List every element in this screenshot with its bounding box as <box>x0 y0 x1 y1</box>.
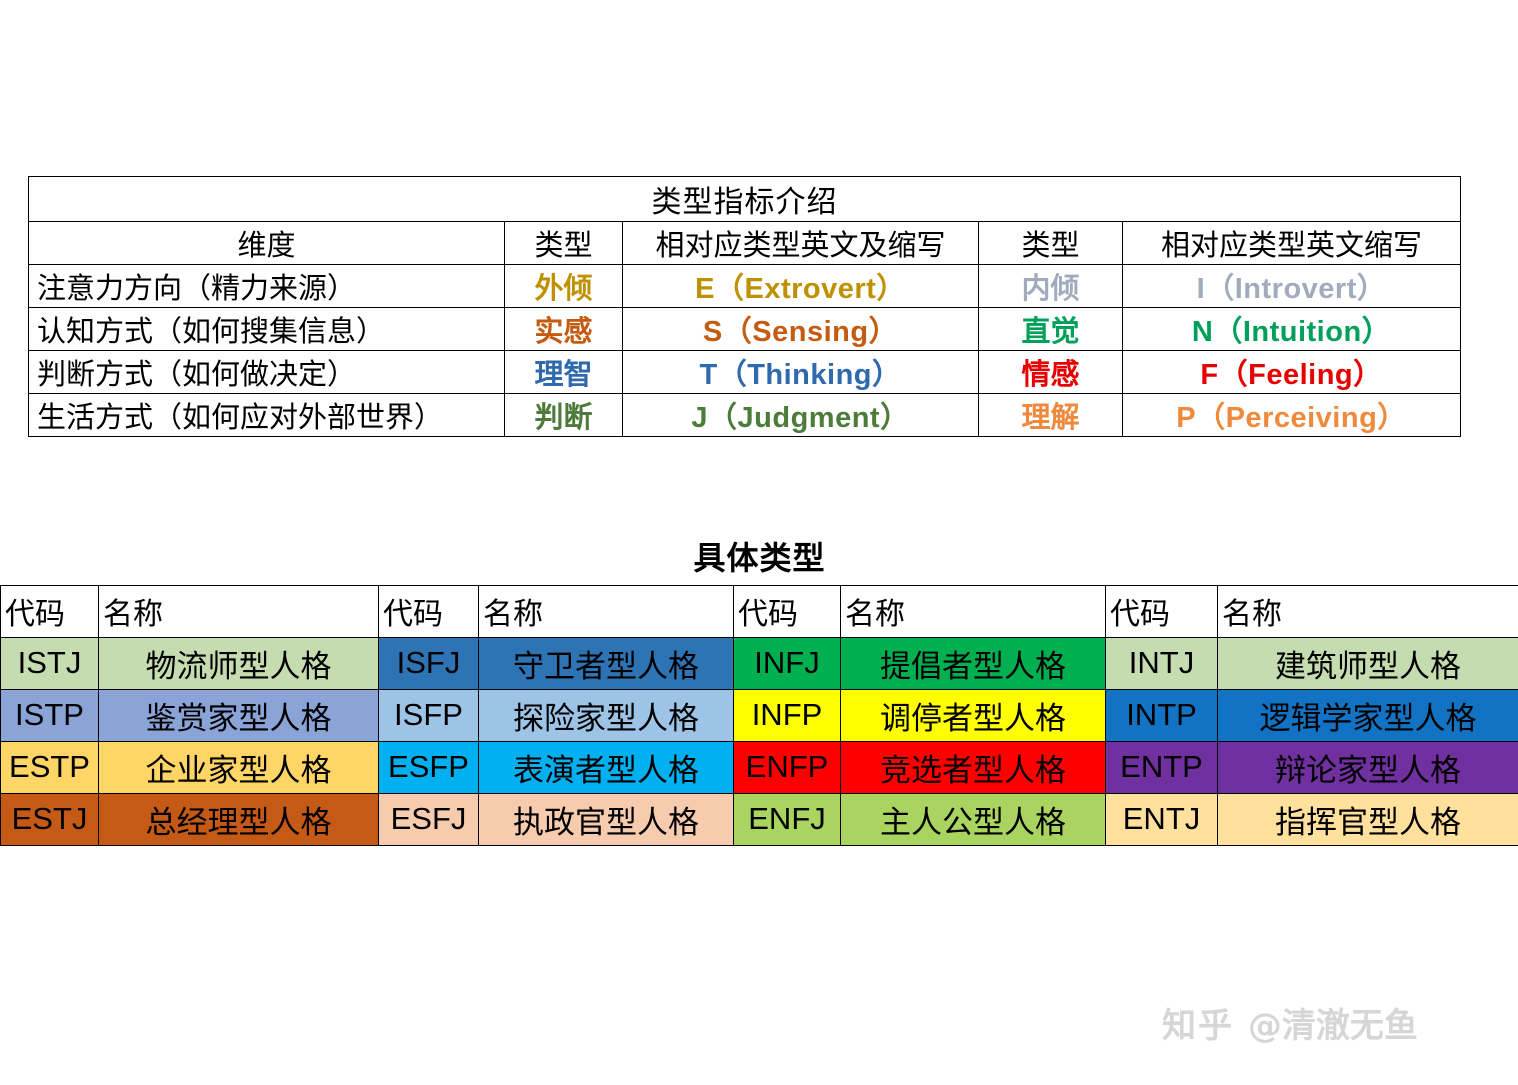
table-header-row: 代码 名称 代码 名称 代码 名称 代码 名称 <box>1 585 1518 637</box>
type-a-label: 判断 <box>505 394 623 437</box>
type-code: ISTJ <box>1 637 99 689</box>
type-b-label: 直觉 <box>979 308 1123 351</box>
type-name: 守卫者型人格 <box>479 637 734 689</box>
header-code-2: 代码 <box>379 585 479 637</box>
dimension-label: 注意力方向（精力来源） <box>29 265 505 308</box>
table-row: ESTP 企业家型人格 ESFP 表演者型人格 ENFP 竞选者型人格 ENTP… <box>1 741 1518 793</box>
header-code-3: 代码 <box>734 585 841 637</box>
dimension-label: 认知方式（如何搜集信息） <box>29 308 505 351</box>
header-english-b: 相对应类型英文缩写 <box>1123 222 1461 265</box>
english-a-label: J（Judgment） <box>623 394 979 437</box>
header-type-b: 类型 <box>979 222 1123 265</box>
type-b-label: 理解 <box>979 394 1123 437</box>
type-name: 鉴赏家型人格 <box>99 689 379 741</box>
type-code: ESFP <box>379 741 479 793</box>
english-b-label: P（Perceiving） <box>1123 394 1461 437</box>
type-code: ENTJ <box>1106 793 1218 845</box>
header-name-4: 名称 <box>1218 585 1518 637</box>
concrete-types-table: 具体类型 代码 名称 代码 名称 代码 名称 代码 名称 ISTJ 物流师型人格… <box>0 527 1518 846</box>
header-name-1: 名称 <box>99 585 379 637</box>
header-english-a: 相对应类型英文及缩写 <box>623 222 979 265</box>
type-code: ESTJ <box>1 793 99 845</box>
header-code-1: 代码 <box>1 585 99 637</box>
english-b-label: F（Feeling） <box>1123 351 1461 394</box>
type-a-label: 实感 <box>505 308 623 351</box>
english-a-label: T（Thinking） <box>623 351 979 394</box>
concrete-types-table-wrapper: 具体类型 代码 名称 代码 名称 代码 名称 代码 名称 ISTJ 物流师型人格… <box>0 527 1518 846</box>
type-code: ESFJ <box>379 793 479 845</box>
type-name: 指挥官型人格 <box>1218 793 1518 845</box>
type-indicator-table-wrapper: 类型指标介绍 维度 类型 相对应类型英文及缩写 类型 相对应类型英文缩写 注意力… <box>28 176 1460 437</box>
type-name: 企业家型人格 <box>99 741 379 793</box>
table-row: ESTJ 总经理型人格 ESFJ 执政官型人格 ENFJ 主人公型人格 ENTJ… <box>1 793 1518 845</box>
header-name-3: 名称 <box>841 585 1106 637</box>
table-row: ISTP 鉴赏家型人格 ISFP 探险家型人格 INFP 调停者型人格 INTP… <box>1 689 1518 741</box>
type-code: INTP <box>1106 689 1218 741</box>
type-b-label: 内倾 <box>979 265 1123 308</box>
watermark-handle: @清澈无鱼 <box>1248 1006 1418 1046</box>
header-code-4: 代码 <box>1106 585 1218 637</box>
type-name: 竞选者型人格 <box>841 741 1106 793</box>
table-title-row: 具体类型 <box>1 527 1518 585</box>
table-row: 认知方式（如何搜集信息） 实感 S（Sensing） 直觉 N（Intuitio… <box>29 308 1461 351</box>
type-code: ISFP <box>379 689 479 741</box>
type-code: ENFJ <box>734 793 841 845</box>
header-dimension: 维度 <box>29 222 505 265</box>
type-b-label: 情感 <box>979 351 1123 394</box>
type-code: ISFJ <box>379 637 479 689</box>
type-name: 主人公型人格 <box>841 793 1106 845</box>
type-code: INFJ <box>734 637 841 689</box>
type-name: 物流师型人格 <box>99 637 379 689</box>
type-code: ISTP <box>1 689 99 741</box>
type-name: 总经理型人格 <box>99 793 379 845</box>
type-code: INFP <box>734 689 841 741</box>
table-row: 生活方式（如何应对外部世界） 判断 J（Judgment） 理解 P（Perce… <box>29 394 1461 437</box>
type-name: 辩论家型人格 <box>1218 741 1518 793</box>
english-b-label: N（Intuition） <box>1123 308 1461 351</box>
type-name: 表演者型人格 <box>479 741 734 793</box>
type-name: 建筑师型人格 <box>1218 637 1518 689</box>
table-row: ISTJ 物流师型人格 ISFJ 守卫者型人格 INFJ 提倡者型人格 INTJ… <box>1 637 1518 689</box>
type-name: 探险家型人格 <box>479 689 734 741</box>
table-title-row: 类型指标介绍 <box>29 177 1461 222</box>
type-code: ESTP <box>1 741 99 793</box>
type-indicator-title: 类型指标介绍 <box>29 177 1461 222</box>
type-a-label: 理智 <box>505 351 623 394</box>
type-name: 提倡者型人格 <box>841 637 1106 689</box>
watermark-brand: 知乎 <box>1162 1006 1234 1046</box>
type-name: 执政官型人格 <box>479 793 734 845</box>
type-a-label: 外倾 <box>505 265 623 308</box>
type-name: 调停者型人格 <box>841 689 1106 741</box>
header-name-2: 名称 <box>479 585 734 637</box>
concrete-types-title: 具体类型 <box>1 527 1518 585</box>
english-a-label: E（Extrovert） <box>623 265 979 308</box>
dimension-label: 判断方式（如何做决定） <box>29 351 505 394</box>
type-name: 逻辑学家型人格 <box>1218 689 1518 741</box>
type-indicator-table: 类型指标介绍 维度 类型 相对应类型英文及缩写 类型 相对应类型英文缩写 注意力… <box>28 176 1461 437</box>
english-a-label: S（Sensing） <box>623 308 979 351</box>
type-code: ENTP <box>1106 741 1218 793</box>
type-code: INTJ <box>1106 637 1218 689</box>
type-code: ENFP <box>734 741 841 793</box>
english-b-label: I（Introvert） <box>1123 265 1461 308</box>
header-type-a: 类型 <box>505 222 623 265</box>
dimension-label: 生活方式（如何应对外部世界） <box>29 394 505 437</box>
table-row: 判断方式（如何做决定） 理智 T（Thinking） 情感 F（Feeling） <box>29 351 1461 394</box>
table-row: 注意力方向（精力来源） 外倾 E（Extrovert） 内倾 I（Introve… <box>29 265 1461 308</box>
table-header-row: 维度 类型 相对应类型英文及缩写 类型 相对应类型英文缩写 <box>29 222 1461 265</box>
watermark: 知乎 @清澈无鱼 <box>1162 998 1418 1047</box>
mbti-reference-sheet: 类型指标介绍 维度 类型 相对应类型英文及缩写 类型 相对应类型英文缩写 注意力… <box>0 0 1518 1085</box>
